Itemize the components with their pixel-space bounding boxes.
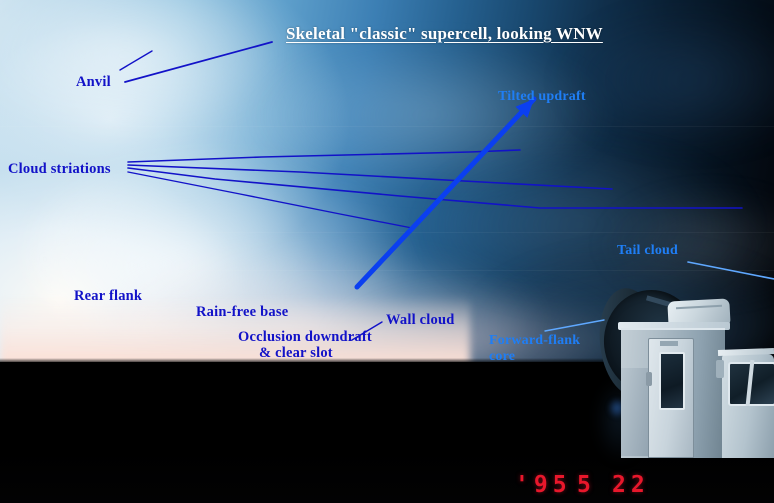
video-scanline [0,270,774,271]
truck-door-vent [660,341,678,346]
truck-side-panel [621,368,649,456]
annotation-label-occlusion-downdraft-line2: & clear slot [259,345,333,361]
annotation-label-forward-flank-core-line2: core [489,349,515,365]
truck-door-handle [646,372,652,386]
annotation-label-tail-cloud: Tail cloud [617,243,678,259]
video-scanline [0,232,774,233]
annotation-label-rain-free-base: Rain-free base [196,304,288,320]
datestamp-month: 5 [577,472,596,498]
annotation-label-cloud-striations: Cloud striations [8,161,111,177]
page-title: Skeletal "classic" supercell, looking WN… [286,24,603,43]
truck-side-mirror [716,360,724,378]
annotation-label-occlusion-downdraft-line1: Occlusion downdraft [238,329,372,345]
annotation-label-rear-flank: Rear flank [74,288,142,304]
truck-door-window [659,352,685,410]
annotation-label-forward-flank-core-line1: Forward-flank [489,333,580,349]
annotation-label-anvil: Anvil [76,74,111,90]
video-scanline [0,126,774,127]
annotation-label-tilted-updraft: Tilted updraft [498,89,586,105]
datestamp-day: 22 [612,472,650,498]
annotation-label-wall-cloud: Wall cloud [386,312,454,328]
datestamp-year: '95 [515,472,572,498]
annotated-supercell-photo: Skeletal "classic" supercell, looking WN… [0,0,774,503]
